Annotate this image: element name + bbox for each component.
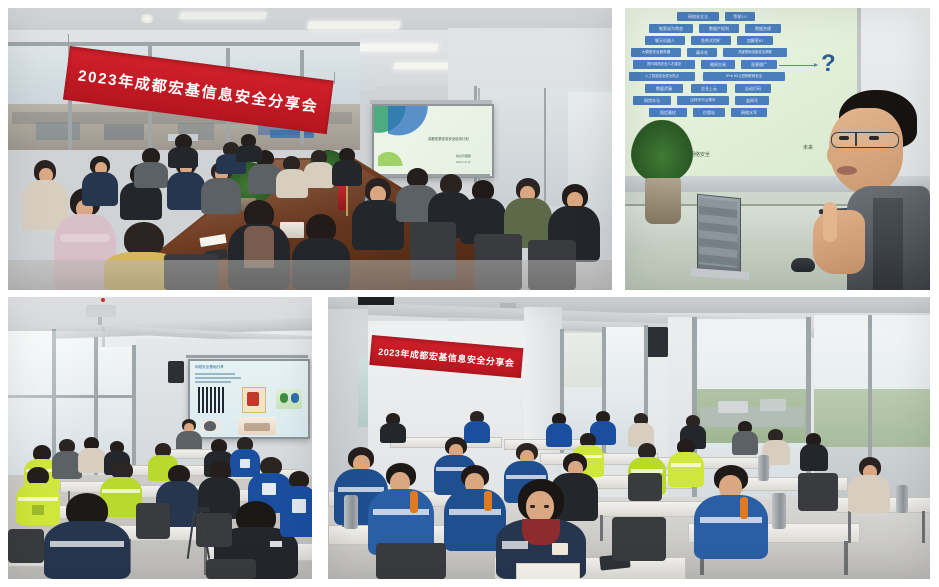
chair xyxy=(612,517,666,561)
slide-tag: 勒索成为常态 xyxy=(649,24,693,33)
event-banner-text: 2023年成都宏基信息安全分享会 xyxy=(378,344,515,369)
attendee xyxy=(304,150,334,188)
slide-tag: 免杀式挖矿 xyxy=(691,36,731,45)
downlight xyxy=(139,14,155,23)
wall-speaker xyxy=(646,327,668,357)
slide-title: 成都宏基信息安全培训计划 xyxy=(428,136,469,141)
attendee xyxy=(44,493,130,579)
speaker-person xyxy=(821,90,930,290)
slide-tag: 盗网号 xyxy=(735,96,769,105)
plant-pot xyxy=(645,178,681,224)
water-bottle xyxy=(772,493,786,529)
photo-top-left: 2023年成都宏基信息安全分享会 成都宏基信息安全培训计划 信息管理部 2023… xyxy=(8,8,612,290)
chair xyxy=(376,543,446,579)
slide-tag: 薅羊毛 xyxy=(687,48,717,57)
attendee xyxy=(732,421,758,455)
ceiling-light xyxy=(179,12,267,19)
slide-tag: 自动打码 xyxy=(735,84,771,93)
slide-tag: 数据合规 xyxy=(745,24,781,33)
ceiling-light xyxy=(307,21,401,29)
photo-collage: 2023年成都宏基信息安全分享会 成都宏基信息安全培训计划 信息管理部 2023… xyxy=(0,0,939,587)
photo-bottom-right: 2023年成都宏基信息安全分享会 xyxy=(328,297,930,579)
arrow-icon xyxy=(779,65,817,66)
projection-screen: 成都宏基信息安全培训计划 信息管理部 2023-10-13 xyxy=(372,104,494,178)
slide-tag: 仿冒站 xyxy=(693,108,725,117)
speaker-hand xyxy=(813,210,865,274)
attendee xyxy=(694,465,768,559)
water-bottle xyxy=(344,495,358,529)
slide-tag: 聊天机器人 xyxy=(645,36,685,45)
attendee xyxy=(380,413,406,443)
slide-tag: 暗网交易 xyxy=(701,60,735,69)
attendee xyxy=(800,433,828,471)
slide-tag: IPv6 5G泛进物联网安全 xyxy=(703,72,785,81)
attendee xyxy=(280,471,312,537)
wall-speaker xyxy=(168,361,184,383)
attendee xyxy=(368,463,434,555)
attendee xyxy=(168,134,198,168)
slide-subtitle: 信息管理部 xyxy=(456,154,471,158)
mouse xyxy=(791,258,815,272)
slide-tag: 网络安全法 xyxy=(677,12,719,21)
chair xyxy=(206,559,256,579)
ceiling-light xyxy=(357,44,438,51)
attendee xyxy=(848,457,890,513)
notebook xyxy=(516,563,580,579)
slide-tag: 人工智能安全成为热点 xyxy=(629,72,695,81)
chair xyxy=(798,473,838,511)
slide-tag: 数据泄漏 xyxy=(645,84,683,93)
projector xyxy=(86,305,116,317)
slide-tag: 加解密IO xyxy=(737,36,773,45)
attendee xyxy=(546,413,572,447)
potted-plant xyxy=(631,120,693,182)
water-bottle xyxy=(758,455,769,481)
photo-top-right: 网络安全法 等保2.0 勒索成为常态 数据产权利 数据合规 聊天机器人 免杀式挖… xyxy=(625,8,930,290)
attendee xyxy=(134,148,168,188)
chair xyxy=(628,473,662,501)
slide-tag: 等保2.0 xyxy=(725,12,755,21)
slide-tag: 关键基础设施攻击频繁 xyxy=(723,48,787,57)
chair xyxy=(8,529,44,563)
slide-tag: 网贷木马 xyxy=(633,96,671,105)
question-mark: ? xyxy=(821,52,836,76)
water-bottle xyxy=(896,485,908,513)
slide-tag: 企业上云 xyxy=(691,84,727,93)
slide-tag: 大模型安全服务器 xyxy=(631,48,681,57)
slide-date: 2023-10-13 xyxy=(456,160,470,164)
photo-bottom-left: 网络安全基础分享 xyxy=(8,297,312,579)
slide-tag: 恶意僵尸 xyxy=(741,60,777,69)
projection-screen: 网络安全基础分享 xyxy=(188,359,310,439)
attendee xyxy=(236,134,262,162)
slide-tag: 短信骚扰 xyxy=(649,108,687,117)
qr-code-icon xyxy=(198,387,224,413)
slide-tag: 数据产权利 xyxy=(699,24,739,33)
chair xyxy=(136,503,170,539)
attendee xyxy=(80,156,120,206)
attendee xyxy=(628,413,654,447)
slide-right-label: 未来 xyxy=(803,144,813,151)
slide-title: 网络安全基础分享 xyxy=(195,365,224,370)
slide-tag: 网络水军 xyxy=(731,108,767,117)
slide-tag: 提问网络安全人才建设 xyxy=(633,60,695,69)
slide-tag: 比特币与山寨币 xyxy=(677,96,729,105)
glasses-icon xyxy=(831,132,899,148)
